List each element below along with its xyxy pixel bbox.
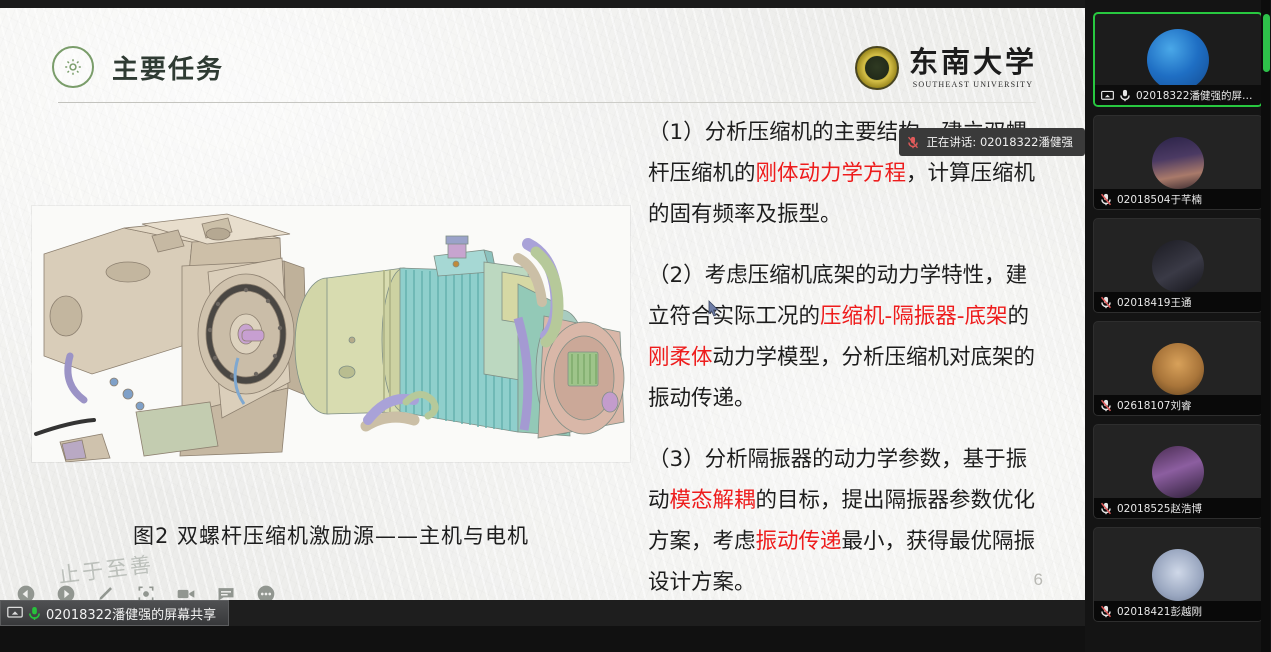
participant-label-bar: 02018419王通 [1094,292,1262,312]
task-2-seg-2: 的 [1008,304,1030,329]
university-seal-icon [855,46,899,90]
task-2-seg-3: 刚柔体 [648,345,713,370]
mic-muted-icon [1100,502,1112,515]
participant-label-bar: 02018322潘健强的屏幕... [1095,85,1261,105]
participants-rail[interactable]: 02018322潘健强的屏幕...02018504于芊楠02018419王通02… [1085,0,1271,652]
avatar [1152,343,1204,395]
screen-share-icon [1101,89,1114,101]
mic-muted-icon [907,136,919,149]
task-1-seg-1: 刚体动力学方程 [756,161,907,186]
page-title: 主要任务 [112,49,224,86]
mic-muted-icon [1100,605,1112,618]
task-2-seg-1: 压缩机-隔振器-底架 [820,304,1008,329]
participant-tile[interactable]: 02018525赵浩博 [1093,424,1263,519]
task-list: （1）分析压缩机的主要结构，建立双螺杆压缩机的刚体动力学方程，计算压缩机的固有频… [648,112,1048,623]
participant-name: 02018525赵浩博 [1117,501,1202,516]
shared-screen-area[interactable]: 主要任务 东南大学 SOUTHEAST UNIVERSITY [0,0,1085,626]
participant-tile[interactable]: 02018322潘健强的屏幕... [1093,12,1263,107]
speaking-tooltip: 正在讲话: 02018322潘健强 [899,128,1085,156]
rail-scrollbar-thumb[interactable] [1263,14,1270,72]
university-name-cn: 东南大学 [909,48,1037,77]
mic-muted-icon [1100,399,1112,412]
participant-name: 02018504于芊楠 [1117,192,1202,207]
compressor-figure [32,206,630,462]
figure-caption: 图2 双螺杆压缩机激励源——主机与电机 [32,520,630,550]
task-3-seg-1: 模态解耦 [670,488,756,513]
screen-share-icon [7,606,23,620]
task-paragraph-2: （2）考虑压缩机底架的动力学特性，建立符合实际工况的压缩机-隔振器-底架的刚柔体… [648,255,1048,419]
slide-page-number: 6 [1034,570,1043,590]
screen-root: 主要任务 东南大学 SOUTHEAST UNIVERSITY [0,0,1271,652]
presentation-slide[interactable]: 主要任务 东南大学 SOUTHEAST UNIVERSITY [0,8,1085,618]
participant-name: 02018419王通 [1117,295,1191,310]
university-name-en: SOUTHEAST UNIVERSITY [913,80,1034,89]
avatar [1152,137,1204,189]
slide-header: 主要任务 [52,46,224,88]
participant-tile[interactable]: 02018419王通 [1093,218,1263,313]
participant-label-bar: 02618107刘睿 [1094,395,1262,415]
speaking-tooltip-label: 正在讲话: 02018322潘健强 [926,134,1073,150]
participant-name: 02018421彭越刚 [1117,604,1202,619]
gear-icon [52,46,94,88]
mic-muted-icon [1100,296,1112,309]
taskbar-share-item[interactable]: 02018322潘健强的屏幕共享 [0,600,229,626]
participant-tile[interactable]: 02018504于芊楠 [1093,115,1263,210]
avatar [1152,446,1204,498]
mic-on-icon [28,606,41,621]
avatar [1152,549,1204,601]
participant-name: 02018322潘健强的屏幕... [1136,88,1255,103]
avatar [1147,29,1209,91]
rail-scrollbar-track[interactable] [1261,0,1270,652]
mic-muted-icon [1100,193,1112,206]
participant-tile[interactable]: 02618107刘睿 [1093,321,1263,416]
participant-label-bar: 02018504于芊楠 [1094,189,1262,209]
task-3-seg-3: 振动传递 [756,529,842,554]
mic-on-icon [1119,89,1131,102]
participant-tile[interactable]: 02018421彭越刚 [1093,527,1263,622]
avatar [1152,240,1204,292]
compressor-cad-drawing [32,206,630,462]
task-paragraph-3: （3）分析隔振器的动力学参数，基于振动模态解耦的目标，提出隔振器参数优化方案，考… [648,439,1048,603]
taskbar-share-label: 02018322潘健强的屏幕共享 [46,604,216,623]
participant-name: 02618107刘睿 [1117,398,1191,413]
participant-label-bar: 02018421彭越刚 [1094,601,1262,621]
participant-label-bar: 02018525赵浩博 [1094,498,1262,518]
windows-taskbar: 02018322潘健强的屏幕共享 [0,600,1085,626]
title-divider [58,102,1036,103]
university-logo: 东南大学 SOUTHEAST UNIVERSITY [855,46,1037,90]
